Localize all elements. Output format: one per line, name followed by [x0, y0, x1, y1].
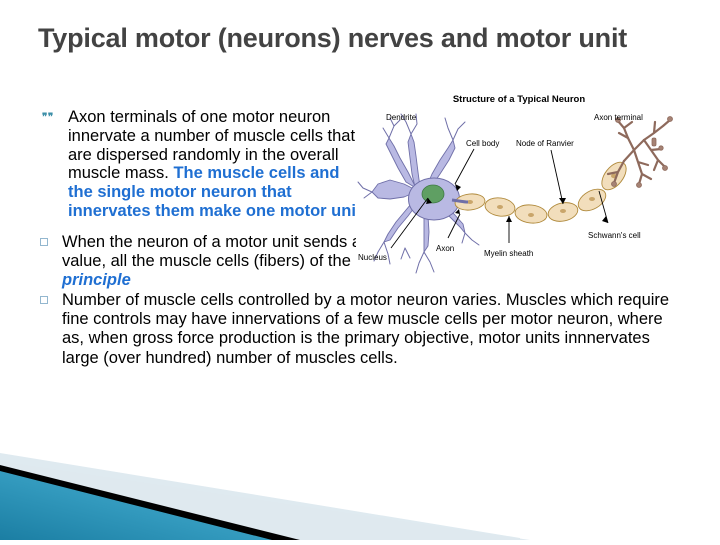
myelin-sheath-shape — [454, 158, 631, 225]
decor-teal-wedge — [0, 471, 272, 540]
label-myelin-sheath: Myelin sheath — [484, 249, 533, 258]
page-title: Typical motor (neurons) nerves and motor… — [38, 22, 638, 55]
nucleus-shape — [422, 185, 444, 203]
square-bullet-icon — [40, 238, 48, 246]
label-dendrite: Dendrite — [386, 113, 417, 122]
label-node-of-ranvier: Node of Ranvier — [516, 139, 574, 148]
bottom-decoration — [0, 445, 720, 540]
axon-terminal-shape — [608, 120, 670, 184]
decor-pale-band-wide — [0, 461, 530, 540]
label-axon-terminal: Axon terminal — [594, 113, 643, 122]
bullet-text: Number of muscle cells controlled by a m… — [62, 291, 669, 366]
label-axon: Axon — [436, 244, 454, 253]
neuron-diagram-figure: Structure of a Typical Neuron — [356, 88, 682, 290]
quote-marker-icon: ❞❞ — [42, 113, 54, 123]
label-nucleus: Nucleus — [358, 253, 387, 262]
bullet-item-axon-terminals: ❞❞Axon terminals of one motor neuron inn… — [36, 108, 368, 221]
label-schwanns-cell: Schwann's cell — [588, 231, 641, 240]
decor-black-stripe — [0, 465, 300, 540]
bullet-item-muscle-cell-count: Number of muscle cells controlled by a m… — [36, 291, 686, 368]
label-cell-body: Cell body — [466, 139, 499, 148]
square-bullet-icon — [40, 296, 48, 304]
decor-pale-band — [0, 453, 520, 540]
figure-title: Structure of a Typical Neuron — [453, 94, 586, 105]
